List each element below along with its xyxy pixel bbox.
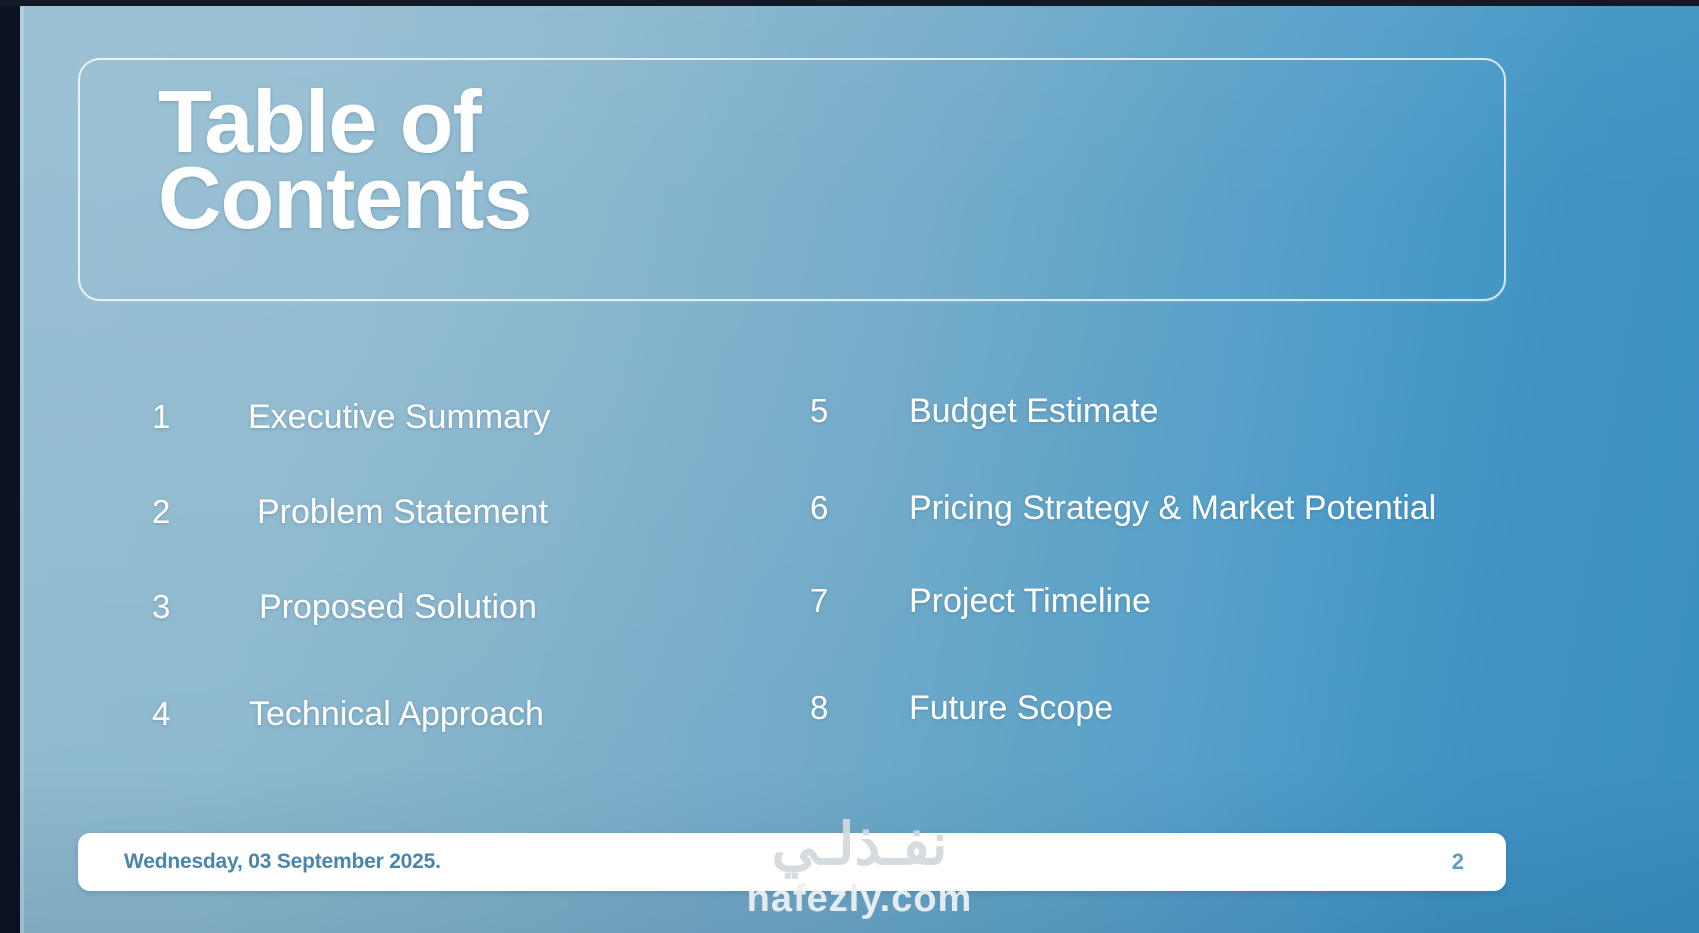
top-bezel <box>0 0 1699 6</box>
toc-number: 4 <box>152 695 248 733</box>
toc-item-1[interactable]: 1 Executive Summary <box>20 398 760 467</box>
toc-label: Budget Estimate <box>909 392 1158 431</box>
toc-item-7[interactable]: 7 Project Timeline <box>760 582 1600 651</box>
toc-number: 5 <box>810 392 909 430</box>
title-card: Table of Contents <box>78 58 1506 301</box>
page-title: Table of Contents <box>158 84 531 235</box>
left-bezel <box>0 0 20 933</box>
toc-item-4[interactable]: 4 Technical Approach <box>20 695 760 764</box>
toc-item-2[interactable]: 2 Problem Statement <box>20 493 760 562</box>
slide-canvas: Table of Contents 1 Executive Summary 2 … <box>20 6 1699 933</box>
toc-item-8[interactable]: 8 Future Scope <box>760 689 1600 758</box>
toc-label: Future Scope <box>909 689 1113 728</box>
toc-item-6[interactable]: 6 Pricing Strategy & Market Potential <box>760 489 1600 558</box>
page-number: 2 <box>1452 849 1464 875</box>
left-bezel-highlight <box>20 6 24 933</box>
toc-label: Executive Summary <box>248 398 550 437</box>
toc-number: 6 <box>810 489 909 527</box>
toc-label: Technical Approach <box>249 695 544 734</box>
toc-number: 2 <box>152 493 248 531</box>
toc-number: 7 <box>810 582 909 620</box>
footer-bar: Wednesday, 03 September 2025. 2 <box>78 833 1506 891</box>
toc-label: Pricing Strategy & Market Potential <box>909 489 1436 528</box>
toc-number: 3 <box>152 588 248 626</box>
toc-item-3[interactable]: 3 Proposed Solution <box>20 588 760 657</box>
table-of-contents: 1 Executive Summary 2 Problem Statement … <box>20 398 1699 764</box>
toc-label: Proposed Solution <box>259 588 537 627</box>
toc-number: 8 <box>810 689 909 727</box>
slide-frame: Table of Contents 1 Executive Summary 2 … <box>0 0 1699 933</box>
toc-label: Problem Statement <box>257 493 548 532</box>
footer-date: Wednesday, 03 September 2025. <box>124 850 441 874</box>
toc-column-left: 1 Executive Summary 2 Problem Statement … <box>20 398 760 764</box>
toc-column-right: 5 Budget Estimate 6 Pricing Strategy & M… <box>760 398 1600 764</box>
toc-number: 1 <box>152 398 248 436</box>
toc-label: Project Timeline <box>909 582 1151 621</box>
toc-item-5[interactable]: 5 Budget Estimate <box>760 392 1600 461</box>
